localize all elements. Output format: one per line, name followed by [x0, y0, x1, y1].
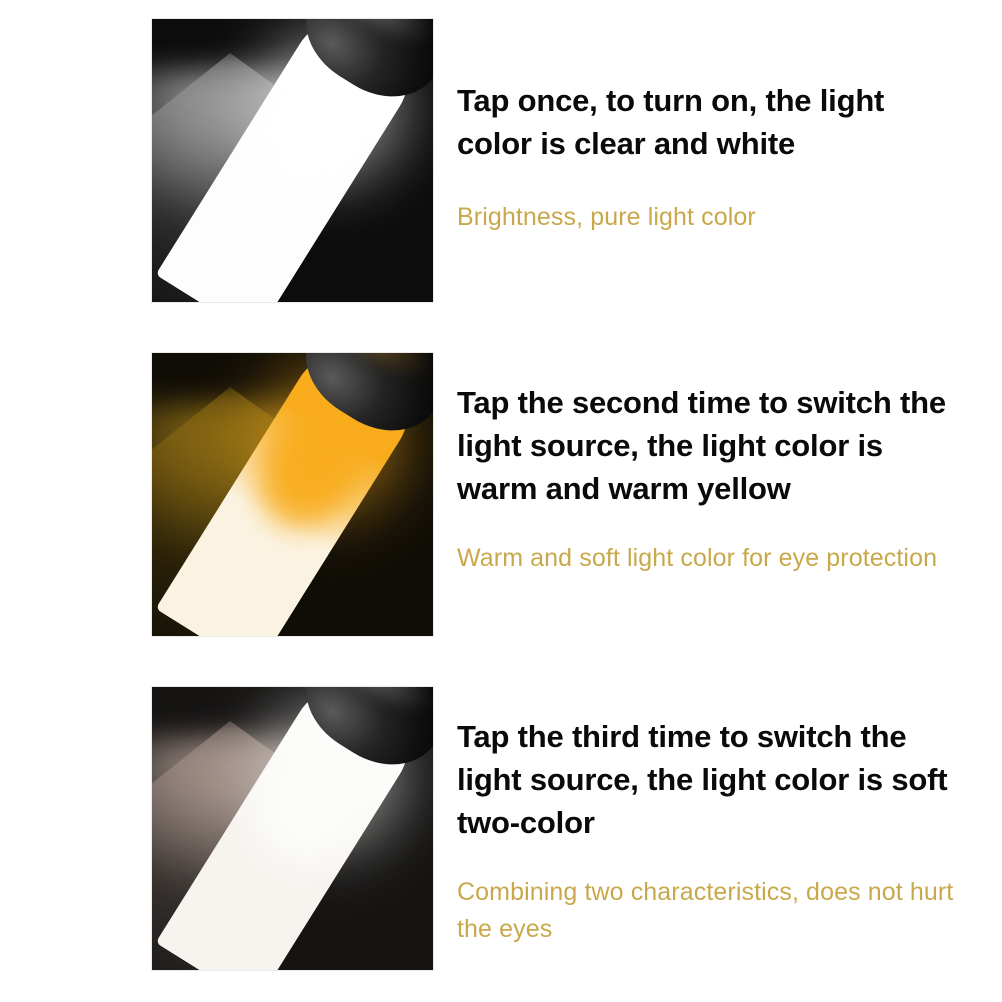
feature-heading: Tap the third time to switch the light s…	[457, 715, 967, 844]
feature-heading: Tap the second time to switch the light …	[457, 381, 967, 510]
lamp-photo-white-light	[152, 19, 433, 302]
feature-row: Tap the third time to switch the light s…	[0, 687, 1002, 971]
lamp-shade-highlight	[312, 19, 433, 57]
lamp-shade-highlight	[312, 353, 433, 391]
product-feature-infographic: Tap once, to turn on, the light color is…	[0, 0, 1002, 1002]
feature-subtext: Warm and soft light color for eye protec…	[457, 510, 957, 577]
feature-row: Tap the second time to switch the light …	[0, 353, 1002, 637]
feature-subtext: Brightness, pure light color	[457, 165, 957, 236]
feature-heading: Tap once, to turn on, the light color is…	[457, 79, 967, 165]
lamp-photo-two-color-light	[152, 687, 433, 970]
feature-text-column: Tap the second time to switch the light …	[457, 353, 1002, 577]
feature-text-column: Tap once, to turn on, the light color is…	[457, 19, 1002, 236]
feature-text-column: Tap the third time to switch the light s…	[457, 687, 1002, 948]
lamp-shade-highlight	[312, 687, 433, 725]
lamp-photo-warm-yellow-light	[152, 353, 433, 636]
feature-row: Tap once, to turn on, the light color is…	[0, 19, 1002, 303]
feature-subtext: Combining two characteristics, does not …	[457, 844, 957, 948]
